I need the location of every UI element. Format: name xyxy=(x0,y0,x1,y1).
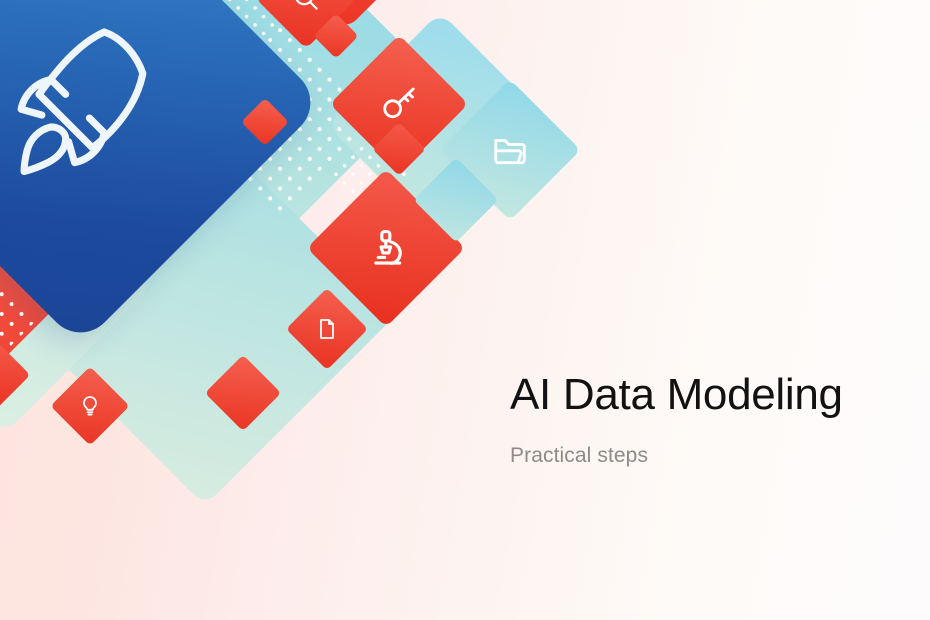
rocket-icon xyxy=(0,8,176,198)
title-block: AI Data Modeling Practical steps xyxy=(510,372,900,468)
document-icon xyxy=(315,317,339,341)
decorative-artwork xyxy=(0,0,620,590)
folder-icon xyxy=(491,131,529,169)
microscope-icon xyxy=(365,227,407,269)
page-title: AI Data Modeling xyxy=(510,372,900,418)
search-icon xyxy=(291,0,321,13)
lightbulb-icon xyxy=(78,394,102,418)
page-subtitle: Practical steps xyxy=(510,444,900,468)
slide-canvas: AI Data Modeling Practical steps xyxy=(0,0,930,620)
key-icon xyxy=(380,85,418,123)
